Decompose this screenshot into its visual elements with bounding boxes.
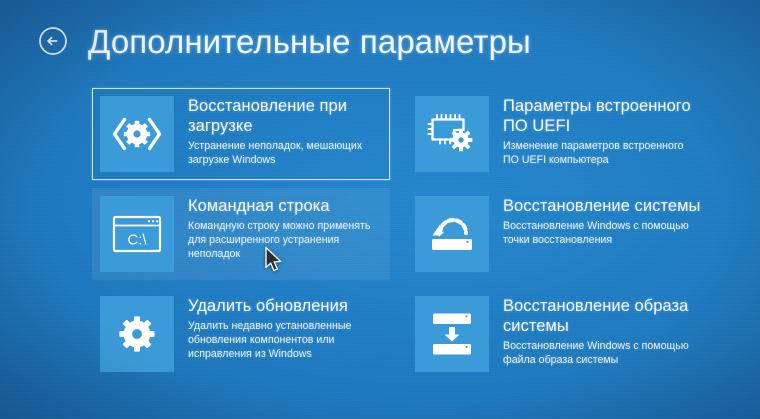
tile-uninstall-updates[interactable]: Удалить обновления Удалить недавно устан…: [92, 288, 390, 380]
startup-repair-icon: [100, 96, 174, 172]
system-restore-icon: [415, 196, 489, 272]
tile-text: Восстановление образа системы Восстановл…: [489, 289, 703, 368]
options-column-right: Параметры встроенного ПО UEFI Изменение …: [406, 88, 704, 380]
tile-title: Восстановление при загрузке: [188, 97, 387, 137]
tile-uefi-firmware-settings[interactable]: Параметры встроенного ПО UEFI Изменение …: [406, 88, 704, 180]
tile-system-restore[interactable]: Восстановление системы Восстановление Wi…: [406, 188, 704, 280]
tile-startup-repair[interactable]: Восстановление при загрузке Устранение н…: [92, 88, 390, 180]
tile-title: Параметры встроенного ПО UEFI: [503, 97, 701, 137]
tile-command-prompt[interactable]: C:\ Командная строка Командную строку мо…: [92, 188, 390, 280]
tile-title: Командная строка: [188, 197, 387, 217]
system-image-recovery-icon: [415, 296, 489, 372]
tile-description: Восстановление Windows с помощью точки в…: [503, 220, 701, 248]
tile-text: Параметры встроенного ПО UEFI Изменение …: [489, 89, 703, 168]
svg-text:C:\: C:\: [127, 232, 147, 249]
tile-text: Восстановление системы Восстановление Wi…: [489, 189, 703, 248]
page-title: Дополнительные параметры: [88, 25, 531, 58]
tile-description: Изменение параметров встроенного ПО UEFI…: [503, 140, 701, 168]
tile-text: Удалить обновления Удалить недавно устан…: [174, 289, 389, 362]
back-arrow-circle-icon[interactable]: [36, 24, 70, 58]
header: Дополнительные параметры: [0, 10, 760, 72]
tile-description: Командную строку можно применять для рас…: [188, 220, 387, 262]
tile-system-image-recovery[interactable]: Восстановление образа системы Восстановл…: [406, 288, 704, 380]
tile-title: Удалить обновления: [188, 297, 387, 317]
options-column-left: Восстановление при загрузке Устранение н…: [92, 88, 390, 380]
tile-title: Восстановление системы: [503, 197, 701, 217]
uefi-chip-icon: [415, 96, 489, 172]
winre-advanced-options-screen: Дополнительные параметры: [0, 0, 760, 419]
command-prompt-icon: C:\: [100, 196, 174, 272]
tile-description: Восстановление Windows с помощью файла о…: [503, 340, 701, 368]
tile-text: Командная строка Командную строку можно …: [174, 189, 389, 262]
gear-icon: [100, 296, 174, 372]
tile-title: Восстановление образа системы: [503, 297, 701, 337]
tile-description: Удалить недавно установленные обновления…: [188, 320, 387, 362]
tile-text: Восстановление при загрузке Устранение н…: [174, 89, 389, 168]
tile-description: Устранение неполадок, мешающих загрузке …: [188, 140, 387, 168]
